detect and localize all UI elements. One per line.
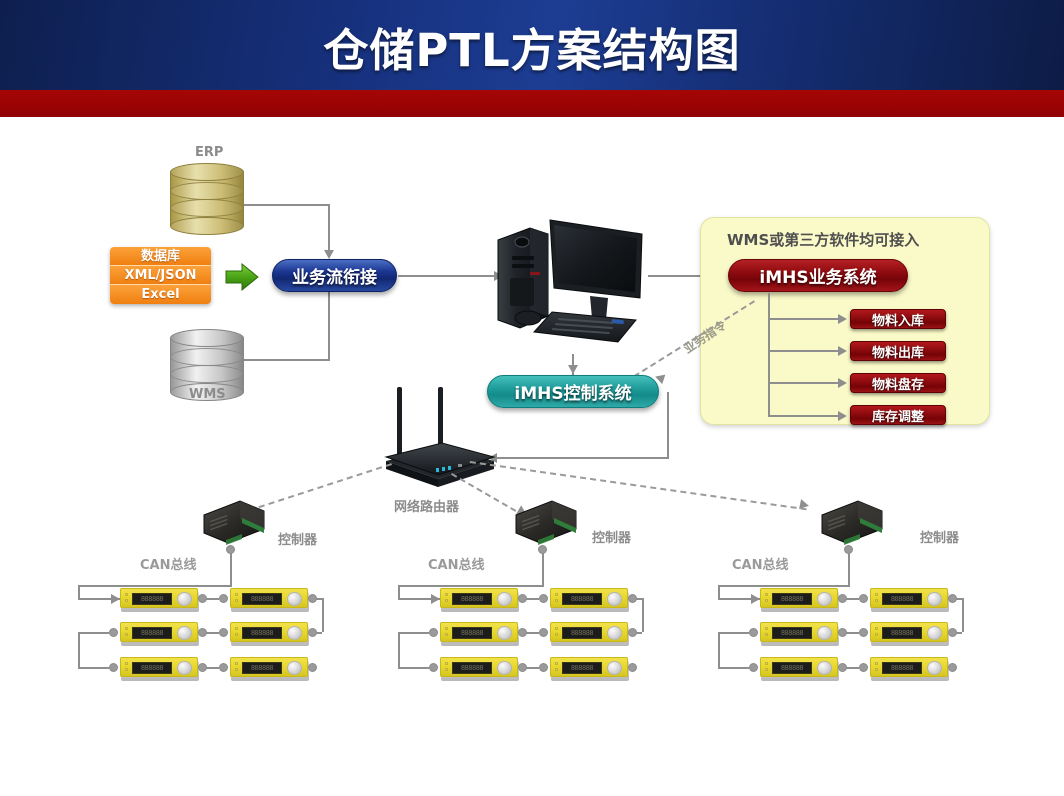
ptl-tag-display: 888888 xyxy=(772,593,812,605)
tag-node-g1-r1-b xyxy=(219,594,228,603)
tag-link-g2-r2 xyxy=(526,632,539,634)
ptl-display-value: 888888 xyxy=(461,630,483,637)
ptl-led-bottom xyxy=(445,668,448,671)
ptl-display-value: 888888 xyxy=(781,665,803,672)
ptl-confirm-button[interactable] xyxy=(177,592,192,606)
ptl-led-top xyxy=(555,627,558,630)
serpentine-1-b2 xyxy=(78,632,80,667)
ptl-display-value: 888888 xyxy=(251,665,273,672)
tag-node-g3-r2-start xyxy=(749,628,758,637)
ptl-tag-face: 888888 xyxy=(550,622,628,642)
ptl-tag-display: 888888 xyxy=(242,593,282,605)
ptl-led-bottom xyxy=(555,599,558,602)
ptl-tag-leds xyxy=(765,593,769,605)
ptl-tag-leds xyxy=(875,662,879,674)
ptl-tag-g2-r2-c1[interactable]: 888888 xyxy=(440,622,520,646)
tag-node-g1-r3-b xyxy=(219,663,228,672)
tag-node-g2-r2-b xyxy=(539,628,548,637)
ptl-tag-face: 888888 xyxy=(760,657,838,677)
tag-node-g2-r3-b xyxy=(539,663,548,672)
tag-node-g3-r1-b xyxy=(859,594,868,603)
bus-left-drop-3 xyxy=(718,585,720,598)
ptl-tag-display: 888888 xyxy=(562,662,602,674)
ptl-led-top xyxy=(445,627,448,630)
serpentine-1-b1 xyxy=(78,632,109,634)
ptl-tag-face: 888888 xyxy=(440,622,518,642)
ptl-confirm-button[interactable] xyxy=(927,661,942,675)
bus-drop-3 xyxy=(848,553,850,585)
serpentine-2-b3 xyxy=(398,667,429,669)
ptl-display-value: 888888 xyxy=(141,596,163,603)
tag-link-g1-r3 xyxy=(206,667,219,669)
tag-link-g3-r1 xyxy=(846,598,859,600)
ptl-confirm-button[interactable] xyxy=(177,626,192,640)
ptl-tag-leds xyxy=(765,662,769,674)
ptl-display-value: 888888 xyxy=(891,665,913,672)
ptl-led-top xyxy=(555,593,558,596)
ptl-tag-g3-r2-c2[interactable]: 888888 xyxy=(870,622,950,646)
ptl-tag-g3-r2-c1[interactable]: 888888 xyxy=(760,622,840,646)
tag-node-g3-r3-b xyxy=(859,663,868,672)
ptl-display-value: 888888 xyxy=(251,630,273,637)
ptl-tag-g3-r3-c1[interactable]: 888888 xyxy=(760,657,840,681)
tag-node-g3-r2-b xyxy=(859,628,868,637)
ptl-tag-display: 888888 xyxy=(882,662,922,674)
ptl-tag-leds xyxy=(875,627,879,639)
ptl-led-top xyxy=(125,662,128,665)
ptl-tag-display: 888888 xyxy=(242,662,282,674)
ptl-led-bottom xyxy=(875,633,878,636)
ptl-tag-display: 888888 xyxy=(452,662,492,674)
ptl-display-value: 888888 xyxy=(891,596,913,603)
serpentine-3-b2 xyxy=(718,632,720,667)
ptl-led-bottom xyxy=(125,668,128,671)
ptl-display-value: 888888 xyxy=(251,596,273,603)
can-bus-3-label: CAN总线 xyxy=(732,554,788,573)
ptl-tag-leds xyxy=(125,593,129,605)
ptl-tag-leds xyxy=(875,593,879,605)
serpentine-1-b3 xyxy=(78,667,109,669)
ptl-display-value: 888888 xyxy=(141,665,163,672)
ptl-tag-display: 888888 xyxy=(242,627,282,639)
ptl-tag-leds xyxy=(235,662,239,674)
tag-node-g2-r3-start xyxy=(429,663,438,672)
ptl-tag-g1-r2-c2[interactable]: 888888 xyxy=(230,622,310,646)
ptl-confirm-button[interactable] xyxy=(607,661,622,675)
ptl-tag-leds xyxy=(125,627,129,639)
ptl-tag-face: 888888 xyxy=(440,657,518,677)
ptl-confirm-button[interactable] xyxy=(817,661,832,675)
ptl-tag-g2-r3-c1[interactable]: 888888 xyxy=(440,657,520,681)
ptl-tag-g1-r1-c1[interactable]: 888888 xyxy=(120,588,200,612)
tag-node-g2-r3-end xyxy=(628,663,637,672)
ptl-tag-face: 888888 xyxy=(230,622,308,642)
header-bar: 仓储PTL方案结构图 xyxy=(0,0,1064,90)
ptl-tag-display: 888888 xyxy=(882,627,922,639)
serpentine-3-b1 xyxy=(718,632,749,634)
ptl-tag-leds xyxy=(235,593,239,605)
ptl-led-bottom xyxy=(235,668,238,671)
ptl-tag-display: 888888 xyxy=(882,593,922,605)
ptl-tag-g2-r1-c2[interactable]: 888888 xyxy=(550,588,630,612)
ptl-led-top xyxy=(765,627,768,630)
ptl-tag-display: 888888 xyxy=(772,662,812,674)
tag-node-g1-r2-start xyxy=(109,628,118,637)
can-bus-1-label: CAN总线 xyxy=(140,554,196,573)
ptl-tag-face: 888888 xyxy=(440,588,518,608)
ptl-tag-g1-r2-c1[interactable]: 888888 xyxy=(120,622,200,646)
serpentine-3-a3 xyxy=(956,632,962,634)
ptl-tag-leds xyxy=(235,627,239,639)
ptl-led-top xyxy=(875,662,878,665)
ptl-tag-display: 888888 xyxy=(562,627,602,639)
ptl-tag-display: 888888 xyxy=(562,593,602,605)
ptl-tag-face: 888888 xyxy=(870,657,948,677)
controller-1-label: 控制器 xyxy=(278,529,317,548)
ptl-display-value: 888888 xyxy=(461,596,483,603)
ptl-tag-g1-r3-c1[interactable]: 888888 xyxy=(120,657,200,681)
tag-node-g2-r1-b xyxy=(539,594,548,603)
ptl-tag-leds xyxy=(555,662,559,674)
serpentine-3-a2 xyxy=(962,598,964,632)
page-title: 仓储PTL方案结构图 xyxy=(0,14,1064,79)
controller-3-label: 控制器 xyxy=(920,527,959,546)
ptl-led-bottom xyxy=(875,668,878,671)
ptl-led-top xyxy=(875,593,878,596)
ptl-led-bottom xyxy=(555,633,558,636)
ptl-led-bottom xyxy=(445,599,448,602)
bus-left-drop-1 xyxy=(78,585,80,598)
ptl-tag-leds xyxy=(445,627,449,639)
ptl-led-bottom xyxy=(125,633,128,636)
ptl-tag-display: 888888 xyxy=(452,627,492,639)
bus-top-run-2 xyxy=(398,585,544,587)
ptl-led-top xyxy=(125,593,128,596)
ptl-confirm-button[interactable] xyxy=(497,661,512,675)
ptl-tag-face: 888888 xyxy=(120,622,198,642)
tag-node-g3-r3-end xyxy=(948,663,957,672)
bus-row1-arrow-1-icon xyxy=(111,594,120,604)
ptl-led-top xyxy=(765,593,768,596)
ptl-tag-face: 888888 xyxy=(870,622,948,642)
tag-node-g2-r2-start xyxy=(429,628,438,637)
ptl-confirm-button[interactable] xyxy=(817,626,832,640)
ptl-led-bottom xyxy=(235,633,238,636)
ptl-led-top xyxy=(235,627,238,630)
ptl-led-top xyxy=(875,627,878,630)
ptl-display-value: 888888 xyxy=(141,630,163,637)
ptl-confirm-button[interactable] xyxy=(287,592,302,606)
ptl-led-bottom xyxy=(765,668,768,671)
ptl-tag-display: 888888 xyxy=(452,593,492,605)
tag-link-g2-r1 xyxy=(526,598,539,600)
ptl-tag-leds xyxy=(445,593,449,605)
ptl-tag-leds xyxy=(555,593,559,605)
ptl-led-bottom xyxy=(235,599,238,602)
ptl-tag-face: 888888 xyxy=(550,657,628,677)
tag-node-g1-r3-end xyxy=(308,663,317,672)
ptl-confirm-button[interactable] xyxy=(607,592,622,606)
ptl-confirm-button[interactable] xyxy=(497,592,512,606)
tag-link-g2-r3 xyxy=(526,667,539,669)
ptl-tag-face: 888888 xyxy=(120,657,198,677)
ptl-confirm-button[interactable] xyxy=(927,626,942,640)
ptl-tag-display: 888888 xyxy=(772,627,812,639)
ptl-tag-g3-r3-c2[interactable]: 888888 xyxy=(870,657,950,681)
bus-row1-arrow-2-icon xyxy=(431,594,440,604)
can-bus-2-label: CAN总线 xyxy=(428,554,484,573)
ptl-led-bottom xyxy=(875,599,878,602)
ptl-tag-face: 888888 xyxy=(550,588,628,608)
bus-top-run-3 xyxy=(718,585,850,587)
ptl-led-bottom xyxy=(765,633,768,636)
ptl-confirm-button[interactable] xyxy=(177,661,192,675)
ptl-led-top xyxy=(445,662,448,665)
ptl-tag-leds xyxy=(555,627,559,639)
tag-link-g1-r2 xyxy=(206,632,219,634)
ptl-tag-g2-r2-c2[interactable]: 888888 xyxy=(550,622,630,646)
header-red-band xyxy=(0,90,1064,117)
ptl-led-top xyxy=(555,662,558,665)
ptl-confirm-button[interactable] xyxy=(287,661,302,675)
bus-top-run-1 xyxy=(78,585,232,587)
ptl-tag-display: 888888 xyxy=(132,593,172,605)
ptl-tag-face: 888888 xyxy=(230,657,308,677)
ptl-tag-g2-r3-c2[interactable]: 888888 xyxy=(550,657,630,681)
controller-2-icon xyxy=(512,499,580,545)
ptl-display-value: 888888 xyxy=(781,630,803,637)
ptl-tag-display: 888888 xyxy=(132,662,172,674)
serpentine-2-a3 xyxy=(636,632,642,634)
ptl-confirm-button[interactable] xyxy=(287,626,302,640)
bus-left-drop-2 xyxy=(398,585,400,598)
ptl-display-value: 888888 xyxy=(571,596,593,603)
ptl-display-value: 888888 xyxy=(781,596,803,603)
ptl-tag-face: 888888 xyxy=(230,588,308,608)
ptl-tag-display: 888888 xyxy=(132,627,172,639)
ptl-tag-leds xyxy=(445,662,449,674)
ptl-led-top xyxy=(235,593,238,596)
tag-link-g3-r3 xyxy=(846,667,859,669)
ptl-led-bottom xyxy=(125,599,128,602)
ptl-tag-g3-r1-c1[interactable]: 888888 xyxy=(760,588,840,612)
serpentine-2-b1 xyxy=(398,632,429,634)
ptl-led-bottom xyxy=(445,633,448,636)
serpentine-1-a3 xyxy=(316,632,322,634)
bus-row1-arrow-3-icon xyxy=(751,594,760,604)
ptl-tag-g2-r1-c1[interactable]: 888888 xyxy=(440,588,520,612)
ptl-tag-face: 888888 xyxy=(870,588,948,608)
ptl-display-value: 888888 xyxy=(571,630,593,637)
ptl-led-bottom xyxy=(765,599,768,602)
ptl-tag-face: 888888 xyxy=(120,588,198,608)
serpentine-1-a2 xyxy=(322,598,324,632)
ptl-tag-g1-r1-c2[interactable]: 888888 xyxy=(230,588,310,612)
controller-1-icon xyxy=(200,499,268,545)
ptl-confirm-button[interactable] xyxy=(497,626,512,640)
bus-drop-2 xyxy=(542,553,544,585)
ptl-tag-leds xyxy=(125,662,129,674)
ptl-display-value: 888888 xyxy=(891,630,913,637)
ptl-tag-g1-r3-c2[interactable]: 888888 xyxy=(230,657,310,681)
serpentine-3-b3 xyxy=(718,667,749,669)
serpentine-2-b2 xyxy=(398,632,400,667)
tag-node-g1-r2-b xyxy=(219,628,228,637)
ptl-led-bottom xyxy=(555,668,558,671)
controller-2-label: 控制器 xyxy=(592,527,631,546)
ptl-display-value: 888888 xyxy=(461,665,483,672)
ptl-tag-g3-r1-c2[interactable]: 888888 xyxy=(870,588,950,612)
ptl-display-value: 888888 xyxy=(571,665,593,672)
ptl-led-top xyxy=(235,662,238,665)
ptl-tag-face: 888888 xyxy=(760,622,838,642)
controller-3-icon xyxy=(818,499,886,545)
ptl-confirm-button[interactable] xyxy=(607,626,622,640)
ptl-confirm-button[interactable] xyxy=(927,592,942,606)
bus-drop-1 xyxy=(230,553,232,585)
tag-link-g3-r2 xyxy=(846,632,859,634)
tag-node-g1-r3-start xyxy=(109,663,118,672)
tag-link-g1-r1 xyxy=(206,598,219,600)
ptl-branches-layer: 控制器CAN总线 888888 888888 xyxy=(0,117,1064,796)
ptl-confirm-button[interactable] xyxy=(817,592,832,606)
ptl-led-top xyxy=(765,662,768,665)
tag-node-g3-r3-start xyxy=(749,663,758,672)
ptl-tag-leds xyxy=(765,627,769,639)
serpentine-2-a2 xyxy=(642,598,644,632)
ptl-tag-face: 888888 xyxy=(760,588,838,608)
ptl-led-top xyxy=(125,627,128,630)
ptl-led-top xyxy=(445,593,448,596)
